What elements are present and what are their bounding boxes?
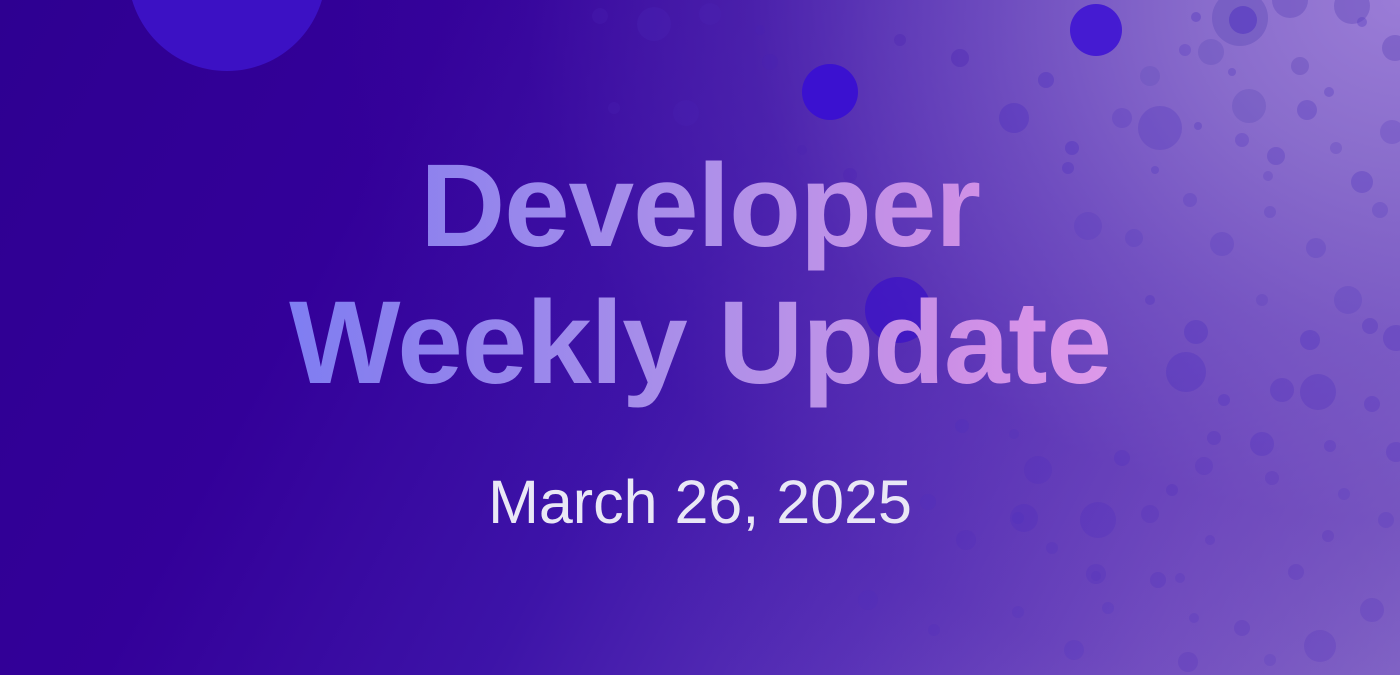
banner-content: Developer Weekly Update March 26, 2025	[0, 0, 1400, 675]
weekly-update-banner: Developer Weekly Update March 26, 2025	[0, 0, 1400, 675]
banner-date: March 26, 2025	[488, 467, 912, 537]
page-title: Developer Weekly Update	[289, 138, 1111, 412]
